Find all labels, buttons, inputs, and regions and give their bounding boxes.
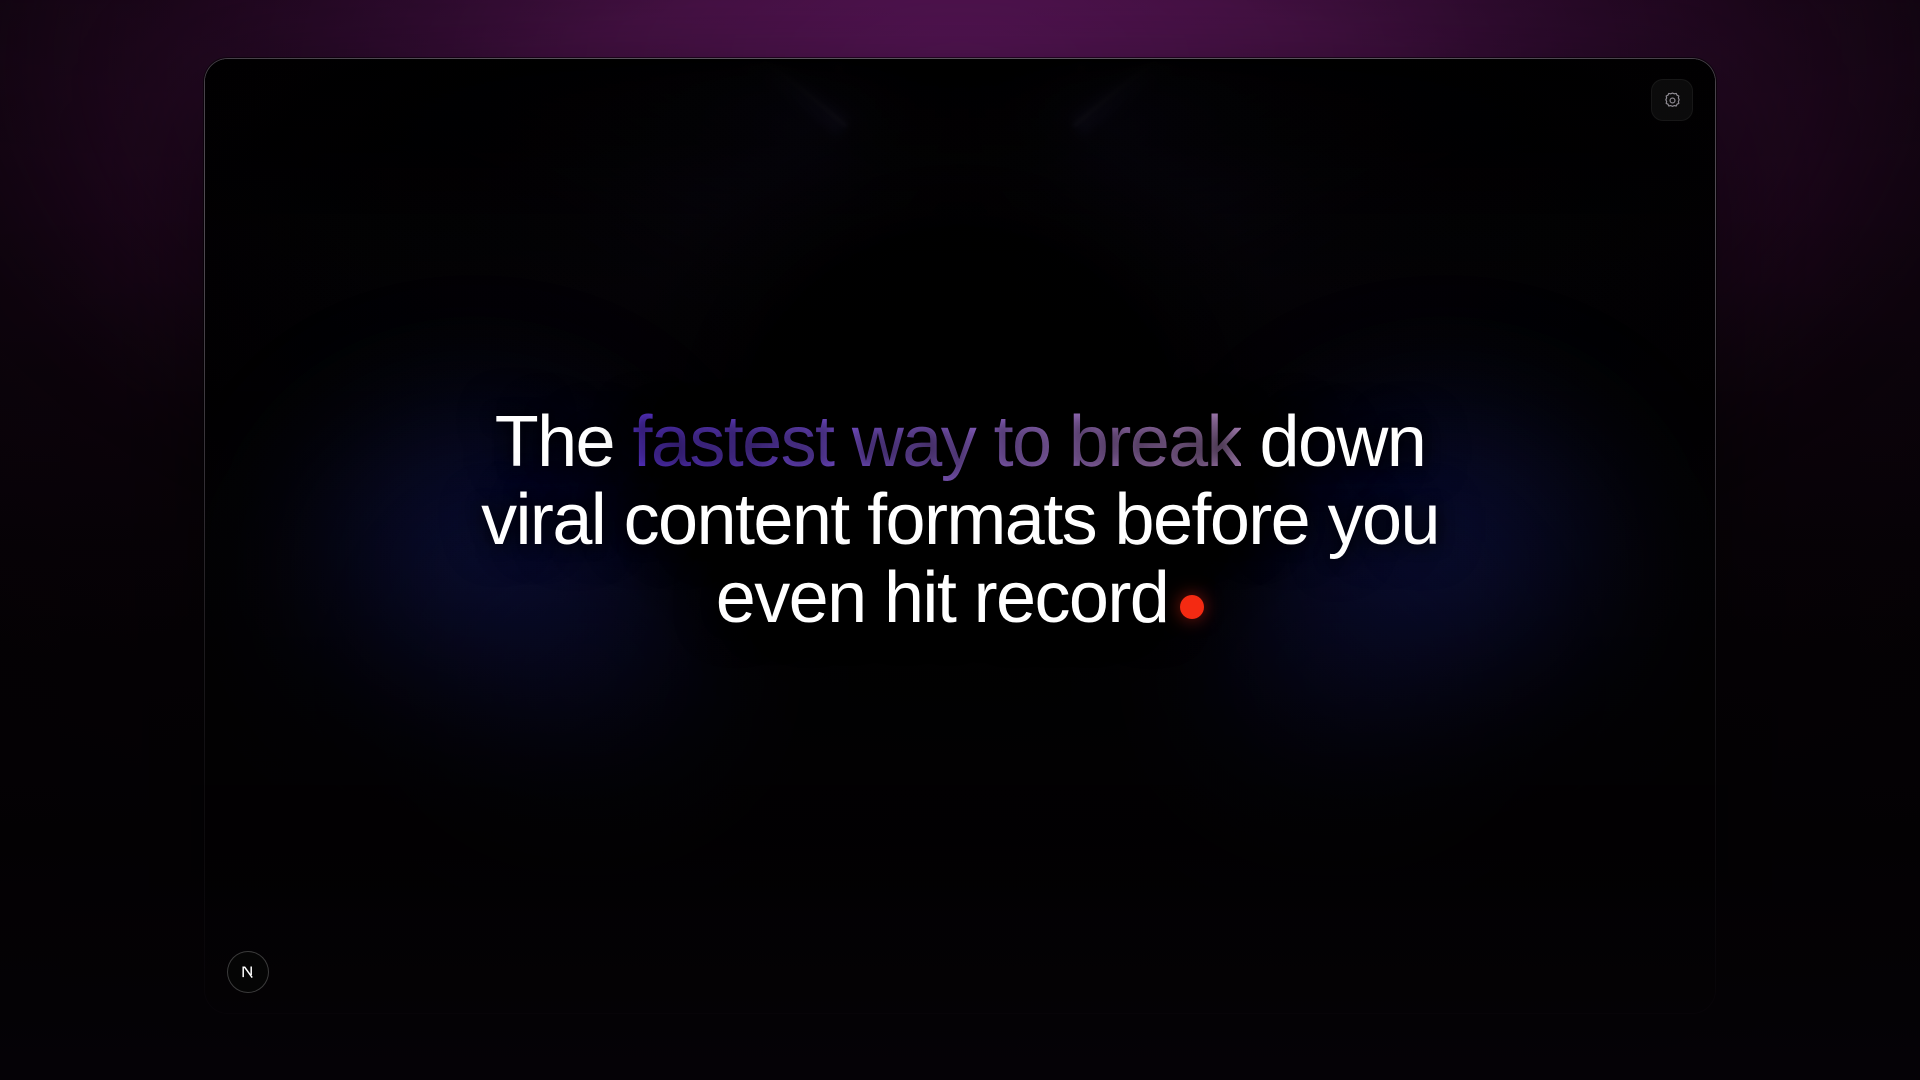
- gear-icon: [1663, 91, 1682, 110]
- headline-container: The fastest way to break down viral cont…: [205, 59, 1715, 1013]
- brand-badge[interactable]: N: [227, 951, 269, 993]
- settings-button[interactable]: Settings: [1651, 79, 1693, 121]
- headline-prefix: The: [495, 402, 633, 482]
- nextjs-logo-icon: [235, 959, 261, 985]
- presentation-stage: Settings The fastest way to break down v…: [0, 0, 1920, 1080]
- slide-card: Settings The fastest way to break down v…: [204, 58, 1716, 1014]
- headline-accent: fastest way to break: [632, 402, 1241, 482]
- page-title: The fastest way to break down viral cont…: [430, 403, 1490, 637]
- recording-dot-icon: [1180, 595, 1204, 619]
